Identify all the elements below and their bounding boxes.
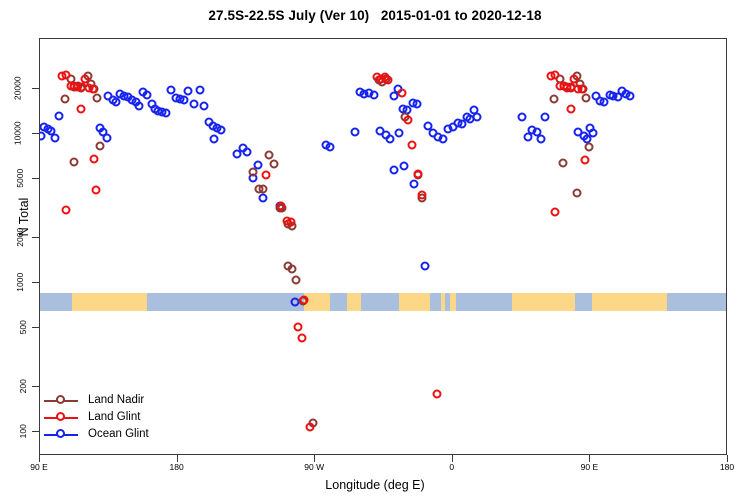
legend-marker-circle-icon — [56, 412, 65, 421]
data-point — [566, 105, 575, 114]
x-tick-label: 90 E — [581, 462, 599, 472]
data-point — [50, 134, 59, 143]
data-point — [305, 423, 314, 432]
data-point — [259, 194, 268, 203]
land-segment — [304, 293, 330, 311]
data-point — [265, 151, 274, 160]
x-tick — [39, 455, 40, 462]
data-point — [626, 92, 635, 101]
x-tick — [452, 455, 453, 462]
data-point — [55, 112, 64, 121]
data-point — [413, 169, 422, 178]
land-segment — [347, 293, 361, 311]
data-point — [395, 128, 404, 137]
x-tick — [727, 455, 728, 462]
x-tick-label: 0 — [449, 462, 454, 472]
legend-marker-circle-icon — [56, 395, 65, 404]
data-point — [403, 115, 412, 124]
y-tick-label: 10000 — [0, 115, 30, 151]
data-point — [162, 109, 171, 118]
data-point — [69, 157, 78, 166]
data-point — [81, 74, 90, 83]
land-ocean-band — [40, 293, 727, 311]
data-point — [581, 155, 590, 164]
legend-label: Land Nadir — [88, 392, 144, 409]
y-tick-label: 100 — [0, 413, 30, 449]
y-tick — [32, 237, 39, 238]
data-point — [572, 189, 581, 198]
data-point — [577, 84, 586, 93]
data-point — [536, 134, 545, 143]
data-point — [259, 185, 268, 194]
data-point — [581, 94, 590, 103]
data-point — [179, 96, 188, 105]
data-point — [293, 322, 302, 331]
data-point — [386, 134, 395, 143]
x-tick — [314, 455, 315, 462]
data-point — [91, 186, 100, 195]
y-tick-label: 2000 — [0, 219, 30, 255]
chart-root: 27.5S-22.5S July (Ver 10) 2015-01-01 to … — [0, 0, 750, 500]
data-point — [287, 264, 296, 273]
land-segment — [441, 293, 446, 311]
data-point — [420, 262, 429, 271]
y-tick-label: 200 — [0, 368, 30, 404]
y-tick-label: 5000 — [0, 160, 30, 196]
data-point — [389, 166, 398, 175]
data-point — [398, 89, 407, 98]
data-point — [243, 147, 252, 156]
data-point — [325, 142, 334, 151]
data-point — [276, 201, 285, 210]
data-point — [102, 134, 111, 143]
data-point — [438, 134, 447, 143]
data-point — [570, 74, 579, 83]
data-point — [90, 154, 99, 163]
data-point — [77, 104, 86, 113]
data-point — [93, 93, 102, 102]
y-tick-label: 20000 — [0, 70, 30, 106]
legend-item[interactable]: Land Glint — [44, 409, 194, 426]
legend-item[interactable]: Ocean Glint — [44, 426, 194, 443]
x-tick-label: 90 E — [30, 462, 48, 472]
data-point — [262, 171, 271, 180]
data-point — [135, 101, 144, 110]
land-segment — [592, 293, 667, 311]
x-tick-label: 90 W — [304, 462, 324, 472]
x-tick-label: 180 — [720, 462, 734, 472]
y-tick — [32, 133, 39, 134]
y-tick — [32, 282, 39, 283]
data-point — [61, 70, 70, 79]
data-point — [199, 101, 208, 110]
data-point — [350, 128, 359, 137]
data-point — [195, 85, 204, 94]
data-point — [61, 205, 70, 214]
data-point — [383, 76, 392, 85]
data-point — [286, 218, 295, 227]
land-segment — [72, 293, 147, 311]
land-segment — [512, 293, 575, 311]
y-tick — [32, 327, 39, 328]
y-tick — [32, 88, 39, 89]
data-point — [550, 94, 559, 103]
legend-label: Ocean Glint — [88, 426, 149, 443]
data-point — [412, 100, 421, 109]
data-point — [473, 112, 482, 121]
legend: Land NadirLand GlintOcean Glint — [44, 392, 194, 443]
data-point — [88, 84, 97, 93]
data-point — [399, 161, 408, 170]
y-tick-label: 500 — [0, 309, 30, 345]
data-point — [408, 141, 417, 150]
y-tick — [32, 178, 39, 179]
data-point — [184, 87, 193, 96]
legend-label: Land Glint — [88, 409, 140, 426]
data-point — [209, 135, 218, 144]
x-tick-label: 180 — [170, 462, 184, 472]
data-point — [540, 112, 549, 121]
y-tick-label: 1000 — [0, 264, 30, 300]
chart-title: 27.5S-22.5S July (Ver 10) 2015-01-01 to … — [0, 8, 750, 23]
legend-marker-circle-icon — [56, 429, 65, 438]
data-point — [61, 94, 70, 103]
y-tick — [32, 431, 39, 432]
data-point — [558, 158, 567, 167]
data-point — [143, 91, 152, 100]
data-point — [95, 142, 104, 151]
data-point — [551, 207, 560, 216]
data-point — [517, 112, 526, 121]
data-point — [292, 275, 301, 284]
x-tick — [177, 455, 178, 462]
data-point — [432, 389, 441, 398]
data-point — [299, 295, 308, 304]
data-point — [584, 142, 593, 151]
data-point — [217, 126, 226, 135]
land-segment — [450, 293, 456, 311]
data-point — [409, 180, 418, 189]
data-point — [298, 333, 307, 342]
data-point — [269, 159, 278, 168]
x-axis-label: Longitude (deg E) — [0, 478, 750, 492]
data-point — [551, 70, 560, 79]
legend-item[interactable]: Land Nadir — [44, 392, 194, 409]
data-point — [248, 167, 257, 176]
y-tick — [32, 386, 39, 387]
data-point — [370, 90, 379, 99]
data-point — [190, 99, 199, 108]
data-point — [418, 190, 427, 199]
land-segment — [399, 293, 430, 311]
x-tick — [589, 455, 590, 462]
